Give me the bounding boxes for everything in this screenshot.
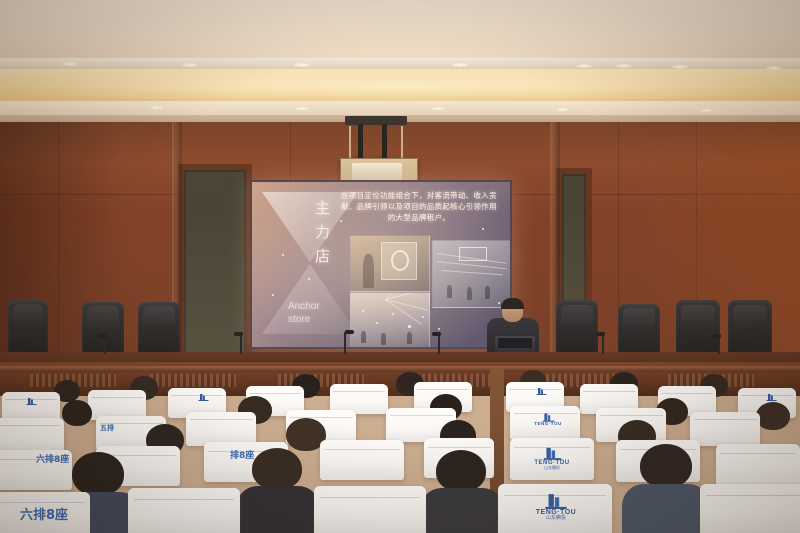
executive-chair[interactable] <box>82 302 124 358</box>
gooseneck-microphone[interactable] <box>104 336 106 354</box>
executive-chair[interactable] <box>676 300 720 358</box>
dais-trim <box>0 366 800 372</box>
tengtou-logo: TENG·TOU 山东腾投 <box>520 492 592 521</box>
microphone-capsule <box>712 334 721 338</box>
recessed-spotlight <box>294 63 310 67</box>
conference-hall-photo: 主力店 Anchor store 在项目定位功能组合下，对客流带动、收入贡献、品… <box>0 0 800 533</box>
projected-slide: 主力店 Anchor store 在项目定位功能组合下，对客流带动、收入贡献、品… <box>252 182 510 347</box>
building-tower-icon <box>536 387 547 395</box>
seat-number-sign: 六排8座 <box>20 504 68 523</box>
seat-number-sign: 排8座 <box>230 448 254 461</box>
tengtou-logo: TENG·TOU 山东腾投 <box>522 446 582 470</box>
executive-chair[interactable] <box>8 300 48 356</box>
seat-back-cover[interactable] <box>314 486 426 533</box>
tengtou-logo <box>754 393 788 401</box>
projection-screen: 主力店 Anchor store 在项目定位功能组合下，对客流带动、收入贡献、品… <box>250 180 512 349</box>
recessed-spotlight <box>556 108 569 111</box>
slide-title-en-line2: store <box>288 314 310 325</box>
recessed-spotlight <box>452 63 468 67</box>
audience-head <box>252 448 302 490</box>
ceiling-upper-plane <box>0 0 800 60</box>
tengtou-logo: TENG·TOU <box>528 412 568 427</box>
audience-head <box>436 450 486 492</box>
slide-photo-mall-atrium <box>432 240 510 308</box>
recessed-spotlight <box>766 66 782 70</box>
gooseneck-microphone[interactable] <box>718 336 720 354</box>
audience-head <box>72 452 124 496</box>
gooseneck-microphone[interactable] <box>438 334 440 354</box>
recessed-spotlight <box>576 64 592 68</box>
seat-back-cover[interactable] <box>0 418 64 452</box>
executive-chair[interactable] <box>138 302 180 358</box>
seat-number-sign: 五排 <box>100 423 114 433</box>
recessed-spotlight <box>616 64 632 68</box>
audience-shoulders <box>420 488 504 533</box>
slide-title-en-line1: Anchor <box>288 301 320 312</box>
slide-body-text: 在项目定位功能组合下，对客流带动、收入贡献、品牌引领以及项目的品质起核心引领作用… <box>338 190 500 223</box>
tengtou-chinese-name: 山东腾投 <box>520 516 592 521</box>
tengtou-chinese-name: 山东腾投 <box>522 466 582 470</box>
audience-head <box>640 444 692 488</box>
recessed-spotlight <box>296 107 309 110</box>
tengtou-wordmark: TENG·TOU <box>528 422 568 427</box>
microphone-capsule <box>234 332 243 336</box>
microphone-capsule <box>432 332 441 336</box>
tengtou-logo <box>524 387 558 395</box>
seat-back-cover[interactable] <box>690 412 760 446</box>
microphone-capsule <box>98 334 107 338</box>
gooseneck-microphone[interactable] <box>344 332 346 354</box>
audience-shoulders <box>622 484 710 533</box>
audience-head <box>62 400 92 426</box>
microphone-capsule <box>596 332 605 336</box>
recessed-spotlight <box>700 109 713 112</box>
cove-lighting-strip <box>0 69 800 103</box>
building-tower-icon <box>198 393 209 401</box>
slide-photo-retail-storefront <box>350 235 430 292</box>
seat-number-sign: 六排8座 <box>36 452 69 465</box>
gooseneck-microphone[interactable] <box>240 334 242 354</box>
executive-chair[interactable] <box>556 300 598 358</box>
seat-back-cover[interactable] <box>320 440 404 480</box>
recessed-spotlight <box>62 62 78 66</box>
building-tower-icon <box>766 393 777 401</box>
projector-drop-rod <box>358 124 363 160</box>
seat-back-cover[interactable] <box>700 484 800 533</box>
recessed-spotlight <box>182 63 198 67</box>
audience-head <box>756 402 790 430</box>
recessed-spotlight <box>432 107 445 110</box>
seat-back-cover[interactable] <box>128 488 240 533</box>
wall-top-shadow <box>0 122 800 162</box>
seat-back-cover[interactable] <box>186 412 256 446</box>
building-tower-icon <box>543 446 562 460</box>
gooseneck-microphone[interactable] <box>602 334 604 354</box>
audience-shoulders <box>236 486 320 533</box>
presenter-hair <box>501 298 524 309</box>
projector-support-arm <box>401 126 403 160</box>
projector-drop-rod <box>382 124 387 160</box>
building-tower-icon <box>26 397 37 405</box>
executive-chair[interactable] <box>728 300 772 358</box>
slide-title-cn: 主力店 <box>315 196 337 268</box>
projector-ceiling-plate <box>345 116 407 125</box>
slide-title-en: Anchor store <box>288 300 358 326</box>
projector-body <box>352 163 402 181</box>
executive-chair[interactable] <box>618 304 660 358</box>
seat-back-cover[interactable] <box>716 444 800 486</box>
building-tower-icon <box>544 492 568 509</box>
slide-photo-mall-skylight <box>350 292 430 347</box>
recessed-spotlight <box>672 65 688 69</box>
tengtou-logo <box>186 393 220 401</box>
projector-support-arm <box>349 126 351 160</box>
tengtou-logo <box>14 397 48 405</box>
microphone-capsule <box>345 330 354 334</box>
dais-carved-panel <box>150 374 236 387</box>
recessed-spotlight <box>150 106 163 109</box>
